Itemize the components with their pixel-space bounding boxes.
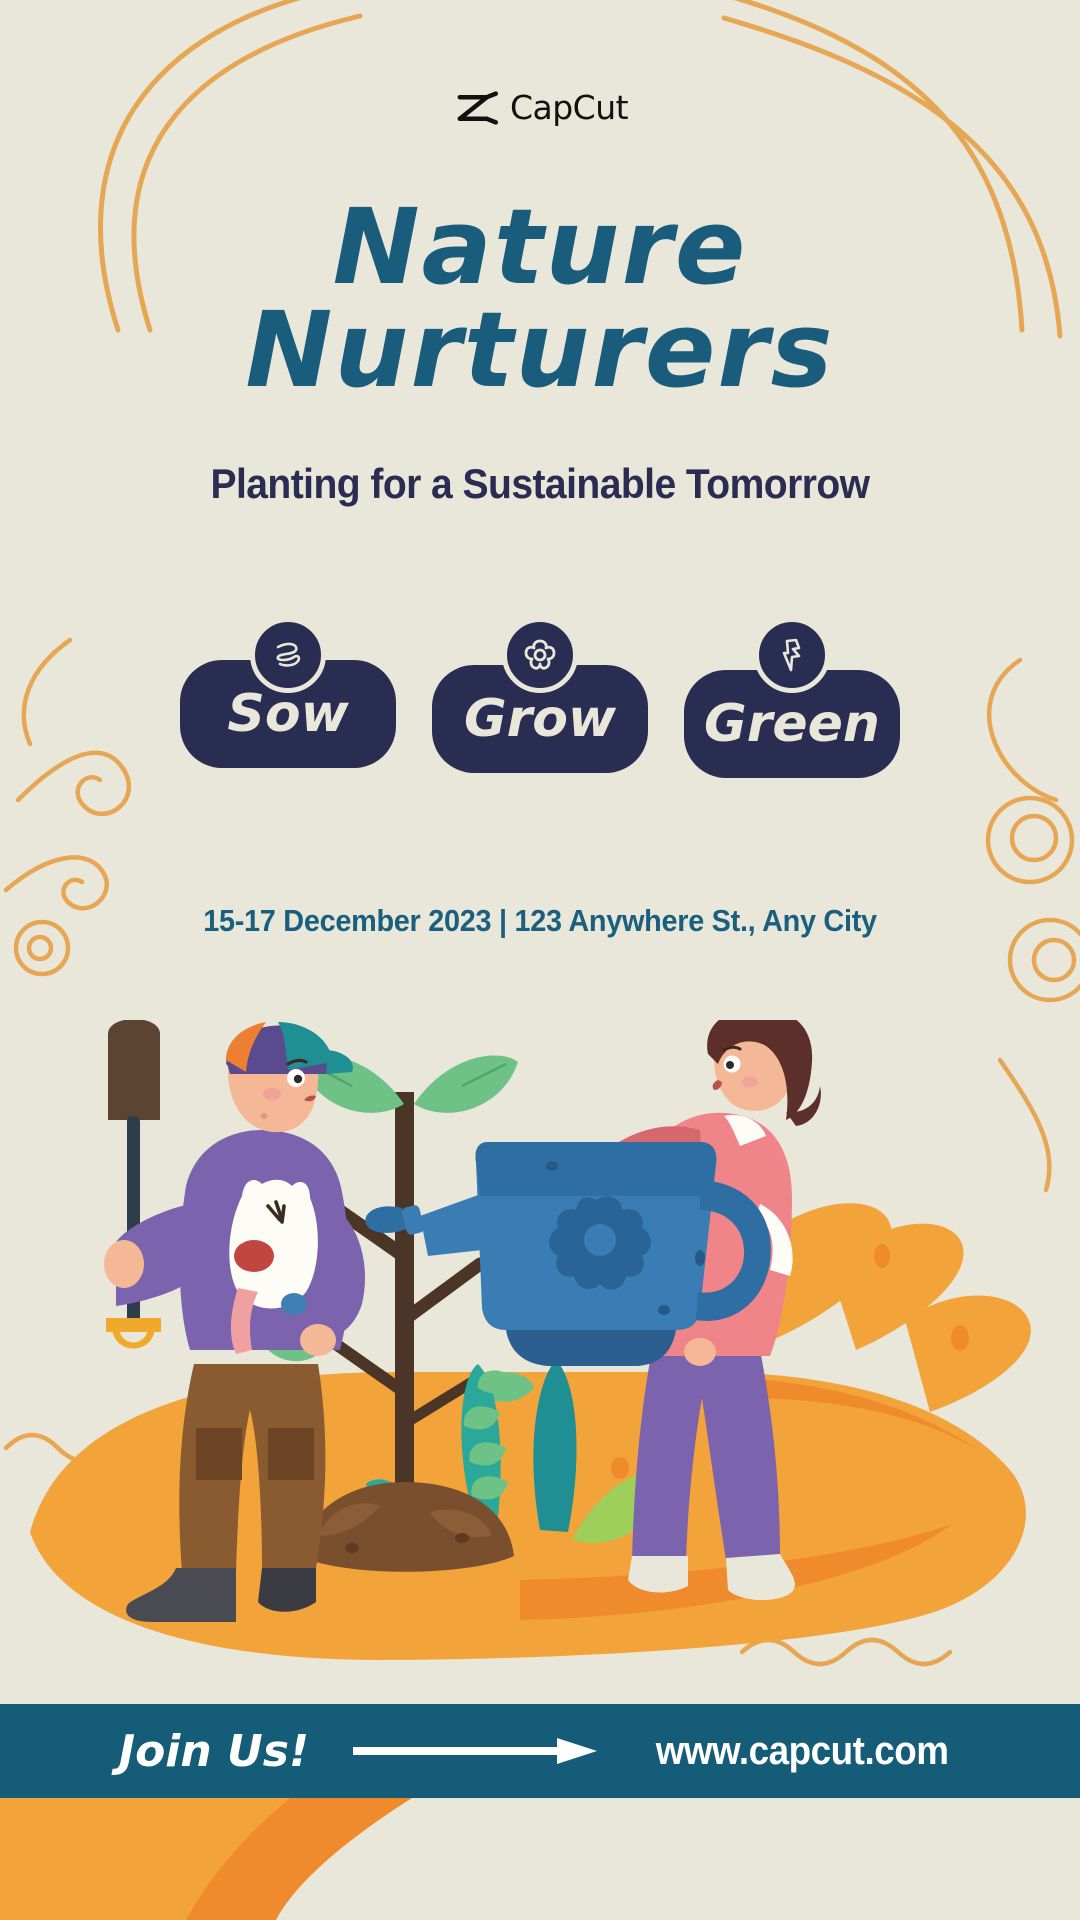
brand-logo: CapCut [0,88,1080,127]
website-url[interactable]: www.capcut.com [656,1729,949,1774]
bottom-orange-strip [0,1798,1080,1920]
gardening-illustration [0,1020,1080,1700]
squiggle-seed-icon [250,617,326,693]
pill-green-label: Green [704,694,880,754]
keyword-pill-row: Sow Grow Green [0,655,1080,778]
right-arrow-icon [351,1736,601,1766]
pill-sow-label: Sow [227,684,348,744]
pill-grow-label: Grow [464,689,616,749]
pill-wrap-green: Green [684,655,900,778]
poster-canvas: CapCut Nature Nurturers Planting for a S… [0,0,1080,1920]
pill-wrap-sow: Sow [180,655,396,768]
capcut-bowtie-icon [452,90,500,126]
join-us-label: Join Us! [119,1726,309,1777]
event-details: 15-17 December 2023 | 123 Anywhere St., … [38,903,1042,939]
subtitle: Planting for a Sustainable Tomorrow [38,460,1042,508]
headline-line-2: Nurturers [0,299,1080,402]
flower-icon [502,617,578,693]
footer-cta-bar: Join Us! www.capcut.com [0,1704,1080,1798]
page-title: Nature Nurturers [0,196,1080,402]
lightning-bolt-icon [754,617,830,693]
pill-wrap-grow: Grow [432,655,648,773]
brand-name: CapCut [510,88,628,127]
